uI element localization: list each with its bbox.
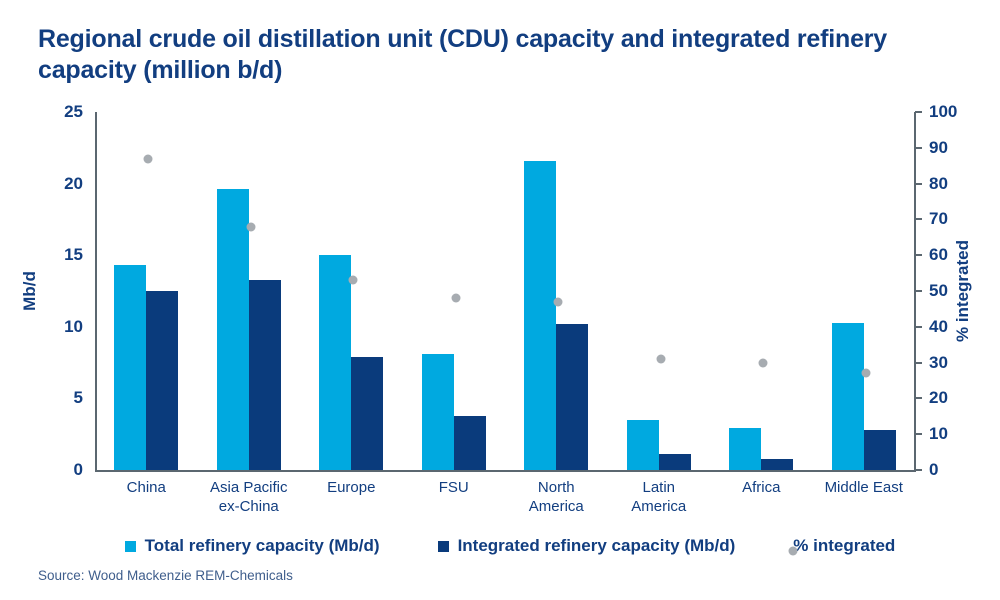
point-percent-integrated[interactable] <box>451 294 460 303</box>
x-axis-category-label: Middle East <box>825 478 903 497</box>
legend-label: Total refinery capacity (Mb/d) <box>145 536 380 556</box>
legend-item[interactable]: Total refinery capacity (Mb/d) <box>125 536 380 556</box>
y-axis-right-tick: 70 <box>915 209 975 229</box>
point-percent-integrated[interactable] <box>861 369 870 378</box>
y-axis-right-tick: 0 <box>915 460 975 480</box>
legend-circle-icon <box>789 546 798 555</box>
bar-group <box>217 112 281 470</box>
y-axis-left-tick: 0 <box>45 460 95 480</box>
bar-group <box>729 112 793 470</box>
x-axis-category-label: North America <box>529 478 584 516</box>
point-percent-integrated[interactable] <box>246 222 255 231</box>
y-axis-left-tick: 20 <box>45 174 95 194</box>
bar-total-refinery-capacity[interactable] <box>627 420 659 470</box>
y-axis-left-tick: 25 <box>45 102 95 122</box>
bar-integrated-refinery-capacity[interactable] <box>249 280 281 470</box>
y-axis-right-tick: 60 <box>915 245 975 265</box>
x-axis-category-label: FSU <box>439 478 469 497</box>
y-axis-left-tick: 10 <box>45 317 95 337</box>
y-axis-left-title: Mb/d <box>20 271 40 311</box>
y-axis-right-tick: 20 <box>915 388 975 408</box>
y-axis-left-tick: 5 <box>45 388 95 408</box>
bar-integrated-refinery-capacity[interactable] <box>351 357 383 470</box>
bar-total-refinery-capacity[interactable] <box>319 255 351 470</box>
y-axis-right-tick: 80 <box>915 174 975 194</box>
y-axis-right-tick: 100 <box>915 102 975 122</box>
chart-title: Regional crude oil distillation unit (CD… <box>38 24 938 86</box>
x-axis-category-label: Asia Pacific ex-China <box>210 478 288 516</box>
legend-square-icon <box>125 541 136 552</box>
bar-total-refinery-capacity[interactable] <box>217 189 249 470</box>
bar-group <box>524 112 588 470</box>
point-percent-integrated[interactable] <box>349 276 358 285</box>
bar-group <box>319 112 383 470</box>
legend-square-icon <box>438 541 449 552</box>
bar-total-refinery-capacity[interactable] <box>832 323 864 470</box>
chart-legend: Total refinery capacity (Mb/d)Integrated… <box>0 536 1000 556</box>
x-axis-category-label: Latin America <box>631 478 686 516</box>
y-axis-right-tick: 90 <box>915 138 975 158</box>
x-axis-category-label: China <box>127 478 166 497</box>
bar-integrated-refinery-capacity[interactable] <box>454 416 486 470</box>
bar-total-refinery-capacity[interactable] <box>114 265 146 470</box>
bar-group <box>114 112 178 470</box>
point-percent-integrated[interactable] <box>554 297 563 306</box>
bar-integrated-refinery-capacity[interactable] <box>864 430 896 470</box>
y-axis-right-tick: 10 <box>915 424 975 444</box>
bar-integrated-refinery-capacity[interactable] <box>659 454 691 470</box>
x-axis-category-label: Africa <box>742 478 780 497</box>
y-axis-right-tick: 50 <box>915 281 975 301</box>
legend-item[interactable]: Integrated refinery capacity (Mb/d) <box>438 536 736 556</box>
point-percent-integrated[interactable] <box>759 358 768 367</box>
legend-label: % integrated <box>793 536 895 556</box>
bar-group <box>627 112 691 470</box>
y-axis-right-tick: 40 <box>915 317 975 337</box>
bar-group <box>422 112 486 470</box>
y-axis-right-tick: 30 <box>915 353 975 373</box>
bar-integrated-refinery-capacity[interactable] <box>556 324 588 470</box>
bar-total-refinery-capacity[interactable] <box>524 161 556 470</box>
bar-group <box>832 112 896 470</box>
point-percent-integrated[interactable] <box>656 355 665 364</box>
bar-total-refinery-capacity[interactable] <box>422 354 454 470</box>
bar-integrated-refinery-capacity[interactable] <box>146 291 178 470</box>
bar-total-refinery-capacity[interactable] <box>729 428 761 470</box>
y-axis-left-tick: 15 <box>45 245 95 265</box>
point-percent-integrated[interactable] <box>144 154 153 163</box>
legend-label: Integrated refinery capacity (Mb/d) <box>458 536 736 556</box>
x-axis-category-label: Europe <box>327 478 375 497</box>
x-axis-line <box>95 470 916 472</box>
bar-integrated-refinery-capacity[interactable] <box>761 459 793 470</box>
source-note: Source: Wood Mackenzie REM-Chemicals <box>38 568 293 583</box>
legend-item[interactable]: % integrated <box>793 536 895 556</box>
plot-area: 05101520250102030405060708090100 <box>95 112 915 470</box>
